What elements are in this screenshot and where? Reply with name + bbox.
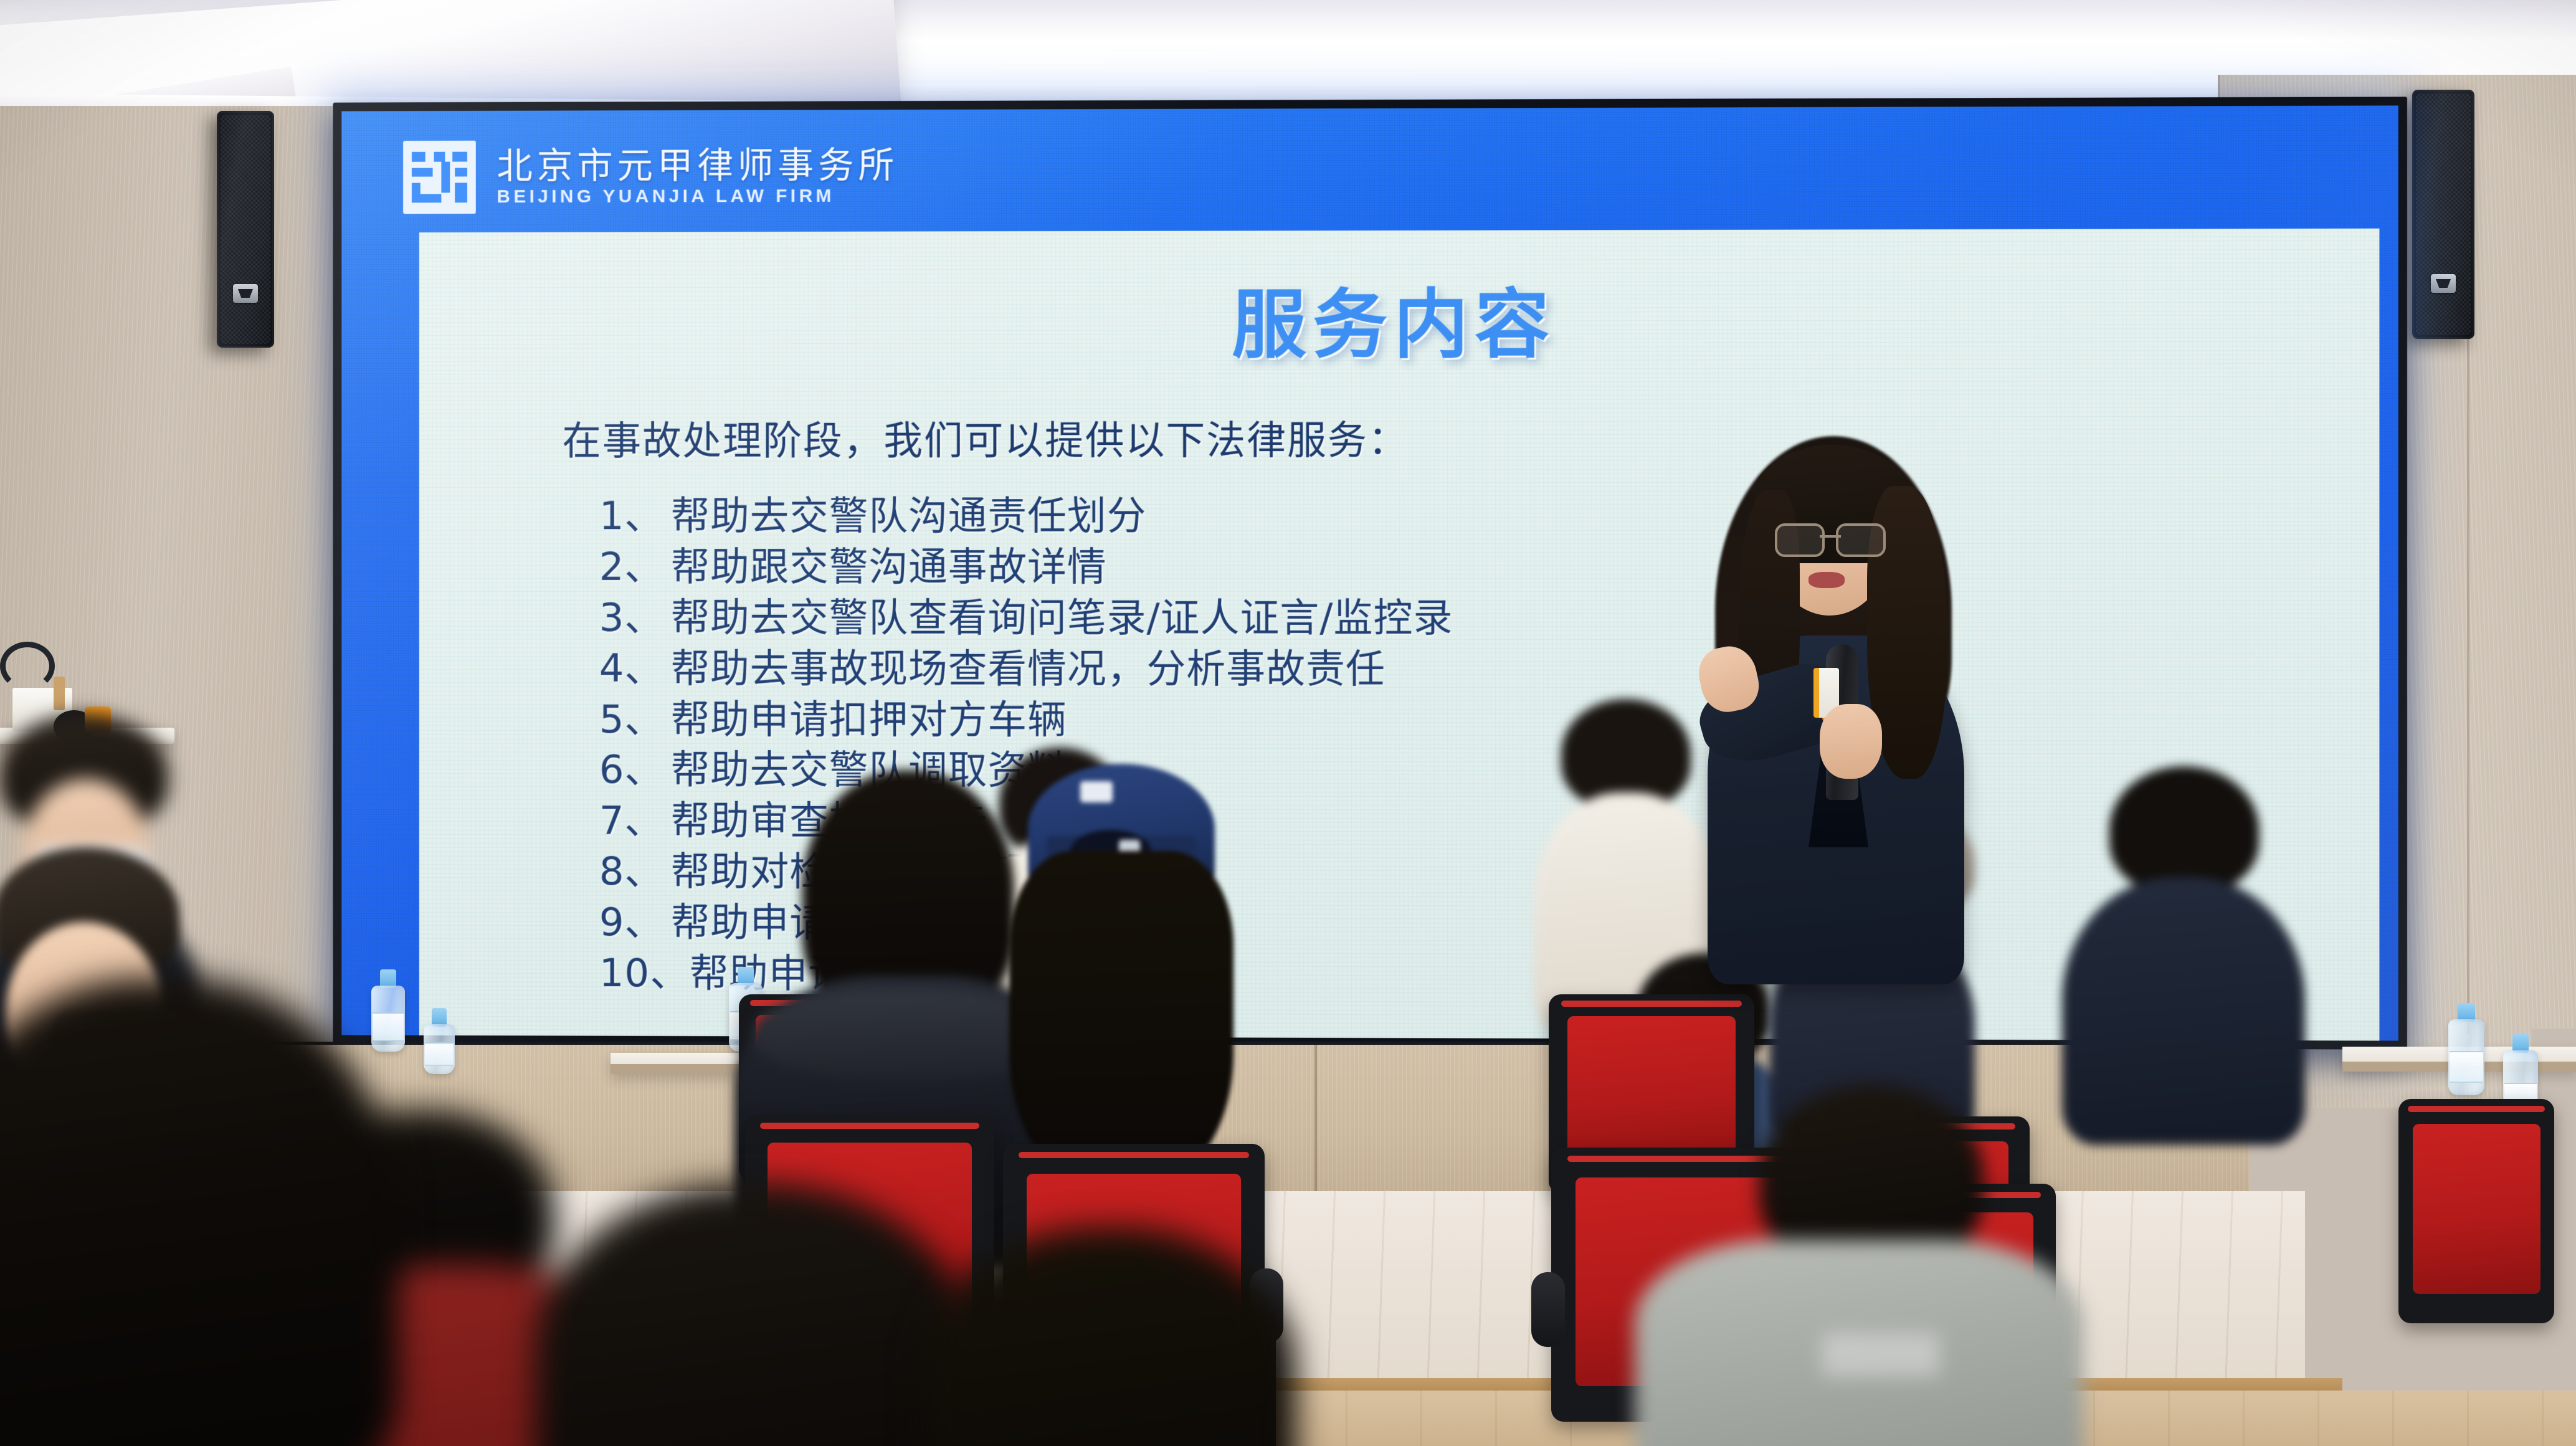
pen-icon xyxy=(54,677,65,710)
brand-name-cn: 北京市元甲律师事务所 xyxy=(497,146,898,185)
slide-list-item-number: 9、 xyxy=(599,897,671,948)
audience-member-foreground xyxy=(922,1227,1296,1446)
presenter-mouth xyxy=(1808,572,1845,588)
slide-list-item-number: 2、 xyxy=(599,541,671,592)
smartphone-icon xyxy=(2498,1136,2567,1154)
slide-list-item-number: 3、 xyxy=(599,592,671,644)
presenter-hand-right xyxy=(1820,704,1882,779)
wall-speaker-icon xyxy=(2412,90,2474,339)
brand-wordmark: 北京市元甲律师事务所 BEIJING YUANJIA LAW FIRM xyxy=(497,146,898,207)
audience-member-foreground xyxy=(536,1184,972,1446)
speaker-brand-badge-icon xyxy=(233,284,258,303)
audience-member-with-cap xyxy=(997,764,1271,1200)
slide-list-item-number: 1、 xyxy=(599,491,671,542)
audience-member-foreground xyxy=(1763,1277,2149,1446)
slide-intro-line: 在事故处理阶段，我们可以提供以下法律服务： xyxy=(562,407,2379,465)
water-bottle xyxy=(424,1008,455,1074)
ponytail xyxy=(2286,1246,2430,1433)
slide-list-item-text: 帮助去交警队查看询问笔录/证人证言/监控录 xyxy=(671,595,1453,640)
audience-member-foreground xyxy=(2149,1034,2548,1446)
slide-list-item-number: 5、 xyxy=(599,694,671,745)
slide-list-item-text: 帮助申请扣押对方车辆 xyxy=(671,697,1067,742)
slide-list-item: 3、帮助去交警队查看询问笔录/证人证言/监控录 xyxy=(599,592,2380,644)
slide-title: 服务内容 xyxy=(419,262,2380,374)
audience-member-foreground xyxy=(0,978,399,1446)
notepad xyxy=(2468,1216,2562,1240)
slide-list-item-text: 帮助去交警队沟通责任划分 xyxy=(671,493,1147,538)
wall-speaker-icon xyxy=(217,111,274,348)
company-seal-icon xyxy=(403,141,476,214)
slide-list-item-number: 4、 xyxy=(599,643,671,694)
speaker-brand-badge-icon xyxy=(2431,274,2456,293)
slide-list-item-number: 10、 xyxy=(599,948,690,999)
slide-list-item-number: 8、 xyxy=(599,846,671,897)
slide-list-item-text: 帮助去事故现场查看情况，分析事故责任 xyxy=(671,645,1385,692)
smartphone-icon xyxy=(2486,1262,2567,1281)
slide-list-item-text: 帮助跟交警沟通事故详情 xyxy=(671,544,1107,589)
slide-list-item: 5、帮助申请扣押对方车辆 xyxy=(599,694,2380,746)
presentation-room-photo: 北京市元甲律师事务所 BEIJING YUANJIA LAW FIRM 服务内容… xyxy=(0,0,2576,1446)
slide-brand-header: 北京市元甲律师事务所 BEIJING YUANJIA LAW FIRM xyxy=(403,140,898,214)
slide-list-item: 2、帮助跟交警沟通事故详情 xyxy=(599,541,2380,592)
presenter-speaker xyxy=(1704,430,1972,978)
cable-loop xyxy=(0,642,55,690)
slide-list-item-number: 6、 xyxy=(599,744,671,796)
slide-list-item-number: 7、 xyxy=(599,796,671,847)
slide-list-item: 4、帮助去事故现场查看情况，分析事故责任 xyxy=(599,643,2380,695)
eyeglasses-icon xyxy=(1775,523,1886,552)
slide-list-item: 1、帮助去交警队沟通责任划分 xyxy=(599,490,2380,541)
brand-name-en: BEIJING YUANJIA LAW FIRM xyxy=(497,186,898,207)
